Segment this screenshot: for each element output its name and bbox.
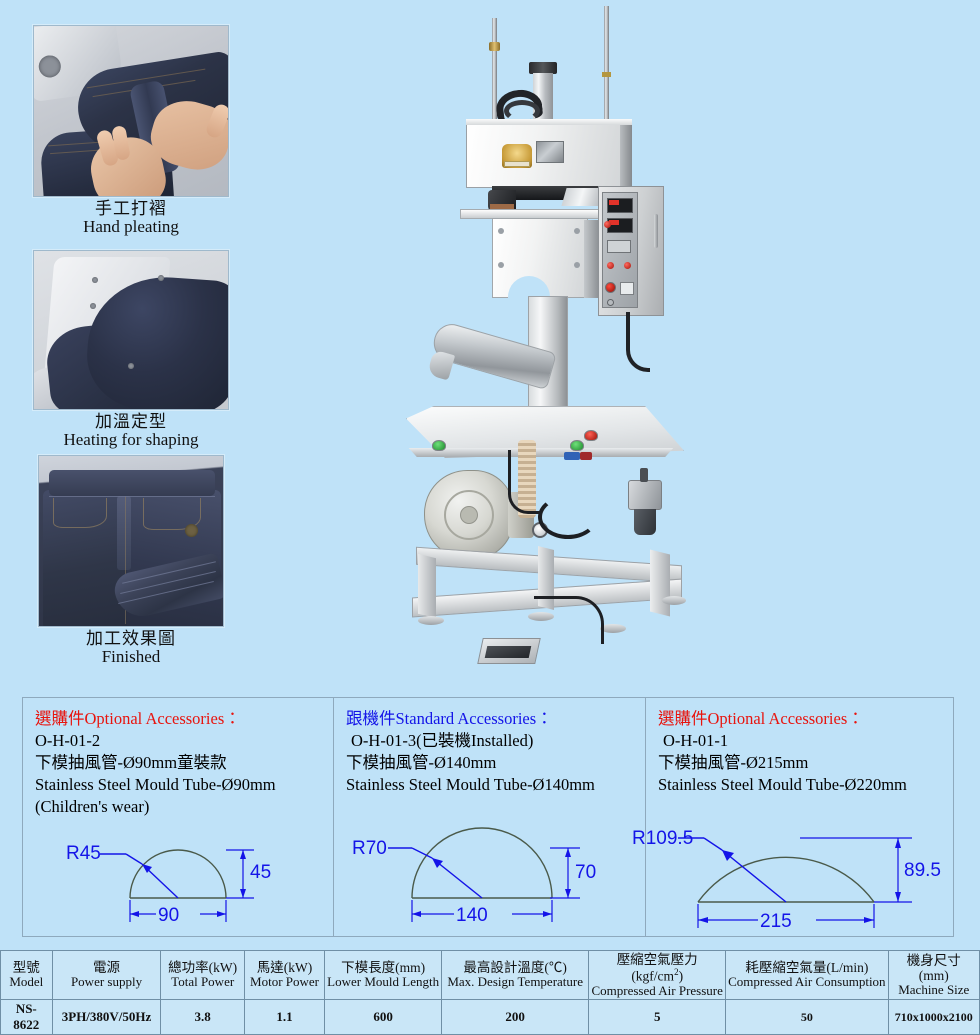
upper-head-top <box>466 119 632 125</box>
accessory-en-1: Stainless Steel Mould Tube-Ø90mm <box>35 774 333 796</box>
duct-outlet <box>427 349 455 380</box>
table-header-row: 型號 Model 電源 Power supply 總功率(kW) Total P… <box>1 951 980 1000</box>
accessory-code-3: O-H-01-1 <box>658 730 953 752</box>
machine-nameplate <box>536 141 564 163</box>
power-switch[interactable] <box>607 299 614 306</box>
brand-badge-text <box>504 161 530 167</box>
air-hose-lower <box>508 450 540 514</box>
heating-for-shaping-image <box>33 250 229 410</box>
start-button-left[interactable] <box>432 440 446 451</box>
mould-bolt-3 <box>574 228 580 234</box>
radius-label-1: R45 <box>66 843 101 864</box>
rod-collar-right <box>602 72 611 77</box>
filter-bowl <box>634 509 656 535</box>
table-row: NS-8622 3PH/380V/50Hz 3.8 1.1 600 200 5 … <box>1 1000 980 1035</box>
accessory-zh-2: 下模抽風管-Ø140mm <box>346 752 645 774</box>
cell-power-supply: 3PH/380V/50Hz <box>52 1000 161 1035</box>
caption-finished: 加工效果圖 Finished <box>0 630 262 667</box>
th-power-supply: 電源 Power supply <box>52 951 161 1000</box>
hand-pleating-image <box>33 25 229 197</box>
foot-pedal-cable <box>534 596 604 644</box>
accessory-en-3: Stainless Steel Mould Tube-Ø220mm <box>658 774 953 796</box>
process-photo-heating-for-shaping: 加溫定型 Heating for shaping <box>0 250 262 450</box>
cell-motor-power: 1.1 <box>244 1000 324 1035</box>
th-motor-power: 馬達(kW) Motor Power <box>244 951 324 1000</box>
height-label-2: 70 <box>575 862 596 883</box>
accessory-code-1: O-H-01-2 <box>35 730 333 752</box>
accessory-zh-3: 下模抽風管-Ø215mm <box>658 752 953 774</box>
indicator-lamp-1 <box>604 221 611 228</box>
th-compressed-air-pressure: 壓縮空氣壓力(kgf/cm2) Compressed Air Pressure <box>589 951 726 1000</box>
height-label-3: 89.5 <box>904 860 941 881</box>
machine-photo <box>388 0 728 686</box>
air-hose-loop <box>538 495 598 539</box>
levelling-foot-4 <box>662 596 686 605</box>
specification-table: 型號 Model 電源 Power supply 總功率(kW) Total P… <box>0 950 980 1035</box>
height-label-1: 45 <box>250 862 271 883</box>
th-lower-mould-length: 下模長度(mm) Lower Mould Length <box>325 951 442 1000</box>
indicator-lamp-3 <box>624 262 631 269</box>
mould-bolt-4 <box>574 262 580 268</box>
width-label-3: 215 <box>760 911 792 932</box>
base-leg-left <box>418 554 436 618</box>
th-total-power: 總功率(kW) Total Power <box>161 951 244 1000</box>
accessory-heading-3: 選購件Optional Accessories： <box>658 708 953 730</box>
display-1-digits <box>609 200 619 205</box>
caption-heating-for-shaping: 加溫定型 Heating for shaping <box>0 413 262 450</box>
timer-display <box>607 240 631 253</box>
cell-machine-size: 710x1000x2100 <box>888 1000 979 1035</box>
upper-head-side <box>620 119 632 188</box>
th-machine-size: 機身尺寸 (mm) Machine Size <box>888 951 979 1000</box>
base-leg-right <box>650 550 670 617</box>
air-inlet-port <box>640 468 648 482</box>
accessories-row: 選購件Optional Accessories： O-H-01-2 下模抽風管-… <box>22 697 954 937</box>
finished-image <box>38 455 224 627</box>
foot-pedal-tread[interactable] <box>485 646 532 658</box>
cell-model: NS-8622 <box>1 1000 53 1035</box>
cell-compressed-air-consumption: 50 <box>726 1000 888 1035</box>
work-table-edge <box>406 448 676 457</box>
emergency-stop-button[interactable] <box>605 282 616 293</box>
cell-lower-mould-length: 600 <box>325 1000 442 1035</box>
start-button-right[interactable] <box>570 440 584 451</box>
process-photo-finished: 加工效果圖 Finished <box>0 455 262 667</box>
cell-compressed-air-pressure: 5 <box>589 1000 726 1035</box>
power-cable <box>626 312 650 372</box>
accessory-zh-1: 下模抽風管-Ø90mm童裝款 <box>35 752 333 774</box>
th-cap-zh: 壓縮空氣壓力(kgf/cm2) <box>591 952 723 984</box>
accessory-drawing-3: R109.5 89.5 215 <box>646 808 953 936</box>
indicator-lamp-2 <box>607 262 614 269</box>
accessory-code-2: O-H-01-3(已裝機Installed) <box>346 730 645 752</box>
accessory-drawing-1: R45 45 90 <box>23 814 333 932</box>
accessory-drawing-2: R70 70 140 <box>334 814 645 932</box>
accessory-optional-215mm: 選購件Optional Accessories： O-H-01-1 下模抽風管-… <box>645 698 953 936</box>
rod-collar-left <box>489 42 500 51</box>
red-fitting <box>580 452 592 460</box>
caption-hand-pleating: 手工打褶 Hand pleating <box>0 200 262 237</box>
radius-label-3: R109.5 <box>632 828 693 849</box>
radius-label-2: R70 <box>352 838 387 859</box>
accessory-optional-90mm: 選購件Optional Accessories： O-H-01-2 下模抽風管-… <box>23 698 333 936</box>
air-filter-regulator <box>628 480 662 510</box>
lower-mould-side <box>584 220 598 298</box>
mould-bolt-1 <box>498 228 504 234</box>
stop-button[interactable] <box>584 430 598 441</box>
accessory-heading-2: 跟機件Standard Accessories： <box>346 708 645 730</box>
socket-outlet <box>620 282 634 295</box>
cell-total-power: 3.8 <box>161 1000 244 1035</box>
accessory-en-2: Stainless Steel Mould Tube-Ø140mm <box>346 774 645 796</box>
th-model: 型號 Model <box>1 951 53 1000</box>
accessory-heading-1: 選購件Optional Accessories： <box>35 708 333 730</box>
accessory-standard-140mm: 跟機件Standard Accessories： O-H-01-3(已裝機Ins… <box>333 698 645 936</box>
cabinet-door-handle[interactable] <box>654 214 658 248</box>
width-label-2: 140 <box>456 905 488 926</box>
process-photo-hand-pleating: 手工打褶 Hand pleating <box>0 25 262 237</box>
blue-fitting <box>564 452 580 460</box>
blower-hub <box>460 506 478 524</box>
th-max-design-temperature: 最高設計溫度(℃) Max. Design Temperature <box>442 951 589 1000</box>
mould-bolt-2 <box>498 262 504 268</box>
width-label-1: 90 <box>158 905 179 926</box>
cell-max-design-temperature: 200 <box>442 1000 589 1035</box>
levelling-foot-1 <box>418 616 444 625</box>
th-compressed-air-consumption: 耗壓縮空氣量(L/min) Compressed Air Consumption <box>726 951 888 1000</box>
